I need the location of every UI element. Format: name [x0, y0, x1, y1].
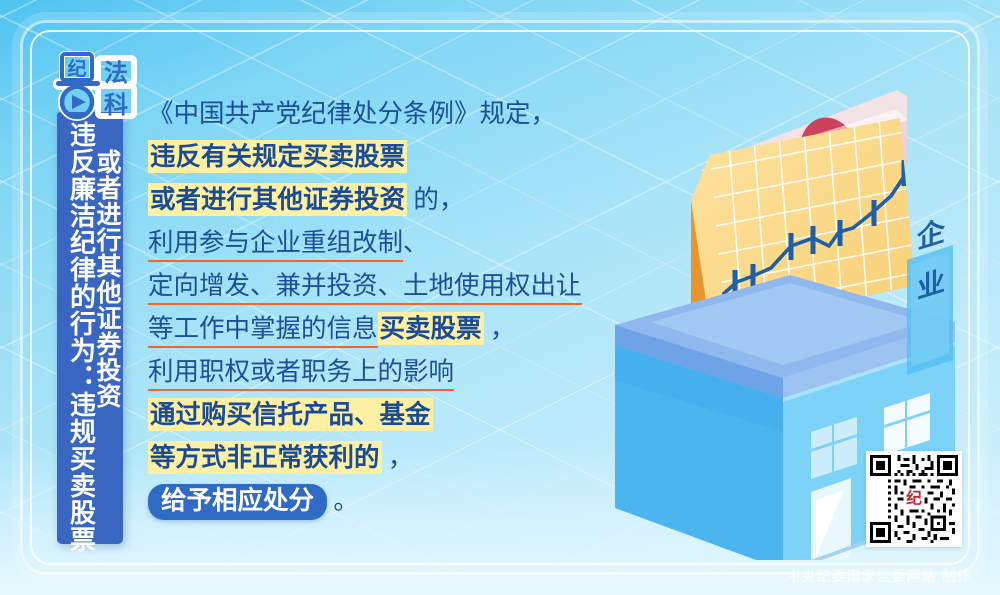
body-segment-plain: 。: [327, 486, 359, 515]
footer-credit: 中央纪委国家监委网站 制作: [787, 565, 972, 585]
vertical-title-banner: 或者进行其他证券投资 违反廉洁纪律的行为：违规买卖股票: [57, 112, 123, 544]
vertical-title-main: 违反廉洁纪律的行为：违规买卖股票: [67, 121, 94, 536]
body-line-6: 等工作中掌握的信息买卖股票 ，: [148, 307, 618, 350]
body-line-2: 违反有关规定买卖股票: [148, 135, 618, 178]
body-segment-underline: 利用参与企业重组改制: [148, 228, 403, 262]
body-segment-plain: 的，: [407, 185, 464, 214]
brand-logo: 纪 法 科: [48, 50, 140, 122]
body-segment-pill: 给予相应处分: [148, 484, 327, 520]
body-line-5: 定向增发、兼并投资、土地使用权出让: [148, 264, 618, 307]
svg-text:法: 法: [104, 60, 128, 87]
body-line-10: 给予相应处分 。: [148, 479, 618, 522]
qr-code-matrix: 纪: [870, 455, 958, 543]
body-segment-underline: 利用职权或者职务上的影响: [148, 357, 454, 391]
body-segment-highlight: 买卖股票: [378, 312, 484, 345]
body-line-4: 利用参与企业重组改制、: [148, 221, 618, 264]
body-segment-plain: ，: [382, 443, 414, 472]
building-sign: 企 业: [907, 214, 953, 375]
svg-text:纪: 纪: [67, 57, 86, 80]
qr-code[interactable]: 纪: [866, 451, 962, 547]
body-segment-plain: 、: [403, 228, 429, 257]
body-line-9: 等方式非正常获利的 ，: [148, 436, 618, 479]
body-line-3: 或者进行其他证券投资 的，: [148, 178, 618, 221]
svg-text:科: 科: [104, 92, 128, 119]
body-segment-highlight: 违反有关规定买卖股票: [148, 140, 407, 173]
body-segment-highlight: 等方式非正常获利的: [148, 441, 382, 474]
body-text-block: 《中国共产党纪律处分条例》规定，违反有关规定买卖股票或者进行其他证券投资 的，利…: [148, 92, 618, 522]
brand-logo-icon: 纪 法 科: [48, 50, 140, 122]
body-line-1: 《中国共产党纪律处分条例》规定，: [148, 92, 618, 135]
body-segment-plain: 《中国共产党纪律处分条例》规定，: [148, 99, 556, 128]
body-segment-highlight: 或者进行其他证券投资: [148, 183, 407, 216]
body-segment-highlight: 通过购买信托产品、基金: [148, 398, 433, 431]
body-line-7: 利用职权或者职务上的影响: [148, 350, 618, 393]
body-segment-plain: ，: [484, 314, 516, 343]
vertical-title-columns: 或者进行其他证券投资 违反廉洁纪律的行为：违规买卖股票: [57, 112, 123, 544]
vertical-title-sub: 或者进行其他证券投资: [94, 121, 120, 536]
body-line-8: 通过购买信托产品、基金: [148, 393, 618, 436]
poster-root: 纪 法 科 或者进行其他证券投资 违反廉洁纪律的行为：违规买卖股票 《中国共产党…: [0, 0, 1000, 595]
qr-center-logo: 纪: [906, 489, 922, 508]
body-segment-underline: 等工作中掌握的信息: [148, 314, 378, 348]
body-segment-underline: 定向增发、兼并投资、土地使用权出让: [148, 271, 582, 305]
